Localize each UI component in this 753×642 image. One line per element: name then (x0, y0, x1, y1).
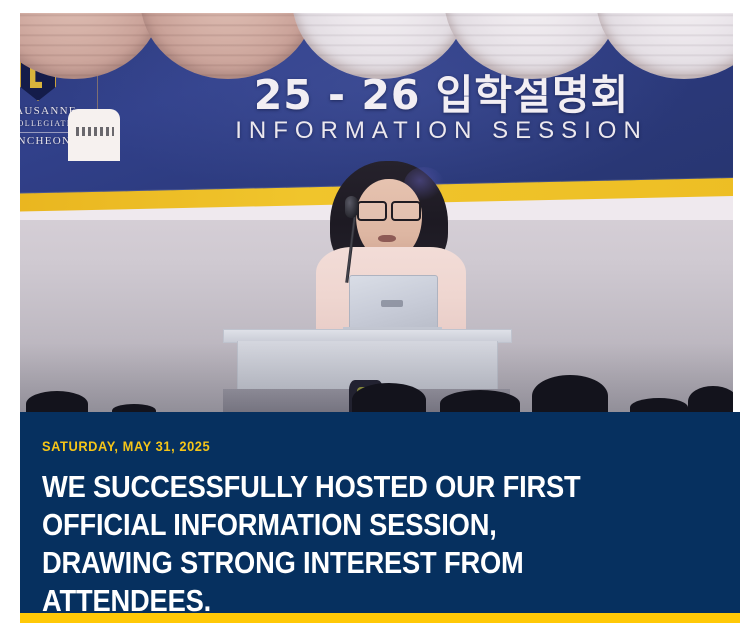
audience-head (532, 375, 608, 417)
presenter-mouth (378, 235, 396, 242)
stage-curtains (20, 13, 733, 75)
laptop-logo (381, 300, 403, 307)
headline: WE SUCCESSFULLY HOSTED OUR FIRST OFFICIA… (42, 468, 623, 620)
glasses-icon (355, 201, 423, 218)
microphone-icon (345, 196, 358, 218)
shirt-print (76, 127, 114, 136)
banner-english-subtitle: INFORMATION SESSION (20, 117, 733, 145)
event-date: SATURDAY, MAY 31, 2025 (42, 438, 210, 454)
news-card: LAUSANNE COLLEGIATE INCHEON 25 - 26 입학설명… (0, 0, 753, 642)
gold-accent-bar (20, 613, 740, 623)
caption-block[interactable]: SATURDAY, MAY 31, 2025 WE SUCCESSFULLY H… (20, 412, 740, 613)
event-photo[interactable]: LAUSANNE COLLEGIATE INCHEON 25 - 26 입학설명… (20, 13, 733, 417)
